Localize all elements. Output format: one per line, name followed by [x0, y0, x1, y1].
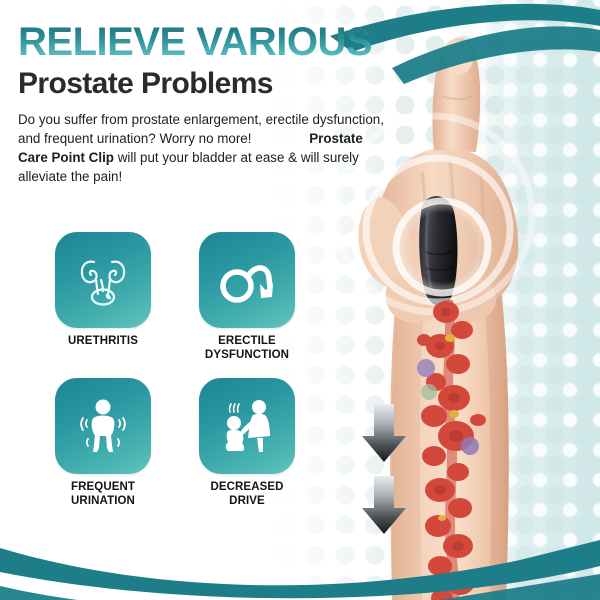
feature-tile — [199, 378, 295, 474]
flow-direction-arrows — [356, 400, 412, 540]
feature-label: DECREASED DRIVE — [196, 481, 298, 508]
body-copy: Do you suffer from prostate enlargement,… — [18, 110, 390, 186]
down-arrow-upper — [362, 404, 406, 462]
feature-label: ERECTILE DYSFUNCTION — [196, 335, 298, 362]
kidneys-bladder-icon — [73, 250, 133, 310]
feature-decreased-drive[interactable]: DECREASED DRIVE — [196, 378, 298, 508]
feature-label: FREQUENT URINATION — [52, 481, 154, 508]
page-subtitle: Prostate Problems — [18, 68, 418, 100]
feature-label: URETHRITIS — [52, 335, 154, 349]
couple-rejection-icon — [217, 396, 277, 456]
feature-urethritis[interactable]: URETHRITIS — [52, 232, 154, 362]
copy-block: RELIEVE VARIOUS Prostate Problems Do you… — [18, 22, 418, 186]
symptom-feature-grid: URETHRITIS ERECTILE DYSFUNCTION — [52, 232, 320, 508]
advertisement-banner: RELIEVE VARIOUS Prostate Problems Do you… — [0, 0, 600, 600]
feature-erectile-dysfunction[interactable]: ERECTILE DYSFUNCTION — [196, 232, 298, 362]
feature-tile — [55, 232, 151, 328]
male-symbol-drooping-arrow-icon — [216, 252, 278, 308]
feature-tile — [55, 378, 151, 474]
page-title: RELIEVE VARIOUS — [18, 22, 418, 62]
down-arrow-lower — [362, 476, 406, 534]
feature-tile — [199, 232, 295, 328]
feature-frequent-urination[interactable]: FREQUENT URINATION — [52, 378, 154, 508]
person-holding-urge-icon — [73, 396, 133, 456]
